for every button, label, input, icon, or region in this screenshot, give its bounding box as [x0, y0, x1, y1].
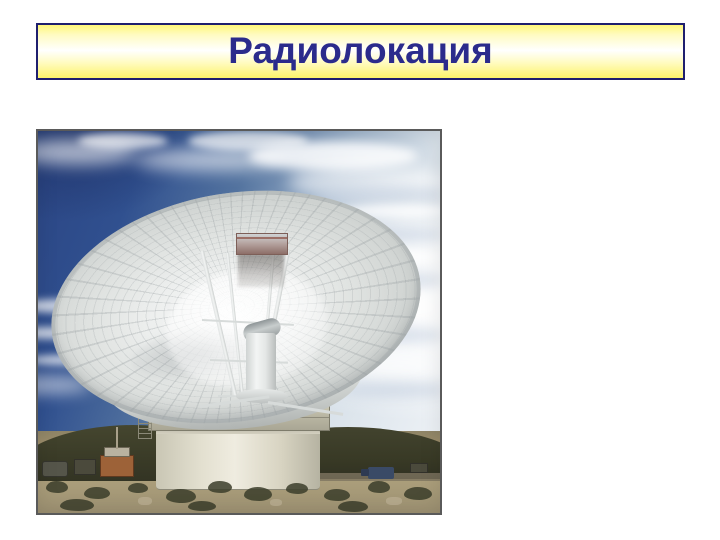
feed-cone — [246, 333, 276, 395]
title-banner: Радиолокация — [36, 23, 685, 80]
platform-shadow — [238, 253, 284, 287]
truck — [368, 467, 394, 479]
parabolic-dish-assembly — [50, 193, 428, 443]
site-tank — [42, 461, 68, 477]
photo-frame — [36, 129, 442, 515]
maintenance-platform — [236, 233, 288, 255]
site-building-dark — [74, 459, 96, 475]
page-title: Радиолокация — [228, 32, 492, 71]
slide-root: Радиолокация — [0, 0, 720, 540]
radio-telescope-photo — [38, 131, 440, 513]
site-building-right — [410, 463, 428, 473]
site-building-orange — [100, 455, 134, 477]
parabolic-dish — [38, 165, 438, 448]
